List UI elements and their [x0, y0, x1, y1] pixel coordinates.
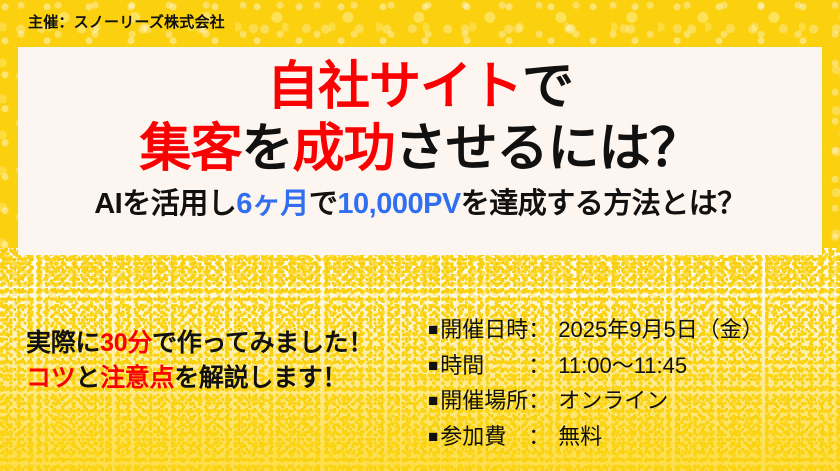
title-line-1: 自社サイトで: [18, 61, 822, 113]
pitch-line-2-highlight-1: コツ: [26, 364, 75, 392]
title-line-2-highlight-1: 集客: [139, 120, 241, 178]
pitch-line-1-highlight: 30分: [100, 329, 152, 357]
square-bullet-icon: ■: [428, 320, 438, 339]
pitch-line-1: 実際に30分で作ってみました！: [26, 326, 373, 361]
pitch-line-2-text-1: と: [75, 364, 100, 392]
square-bullet-icon: ■: [428, 356, 438, 375]
detail-label-fee: 参加費 ：: [440, 419, 558, 455]
pitch-line-2: コツと注意点を解説します！: [26, 361, 373, 396]
subtitle-text-3: を達成する方法とは？: [461, 188, 746, 220]
detail-row-time: ■時間 ：11:00〜11:45: [428, 348, 764, 384]
subtitle-text-1: AIを活用し: [94, 188, 236, 220]
detail-row-fee: ■参加費 ：無料: [428, 419, 764, 455]
host-organizer-line: 主催：スノーリーズ株式会社: [28, 11, 225, 32]
title-card: 自社サイトで 集客を成功させるには？ AIを活用し6ヶ月で10,000PVを達成…: [18, 47, 822, 255]
seminar-banner: 主催：スノーリーズ株式会社 自社サイトで 集客を成功させるには？ AIを活用し6…: [0, 0, 840, 471]
title-line-1-tail: で: [522, 58, 573, 116]
background-speckle-dense: [0, 250, 840, 320]
detail-value-fee: 無料: [558, 424, 602, 449]
subtitle-line: AIを活用し6ヶ月で10,000PVを達成する方法とは？: [18, 190, 822, 219]
title-line-1-highlight: 自社サイト: [267, 58, 522, 116]
title-line-2-text-2: させるには？: [395, 120, 701, 178]
pitch-line-2-text-2: を解説します！: [174, 364, 347, 392]
detail-label-time: 時間 ：: [440, 348, 558, 384]
detail-row-date: ■開催日時：2025年9月5日（金）: [428, 312, 764, 348]
detail-label-venue: 開催場所：: [440, 383, 558, 419]
subtitle-text-2: で: [309, 188, 338, 220]
event-details-block: ■開催日時：2025年9月5日（金） ■時間 ：11:00〜11:45 ■開催場…: [428, 312, 764, 455]
subtitle-highlight-pageviews: 10,000PV: [337, 188, 460, 220]
title-line-2-highlight-2: 成功: [293, 120, 395, 178]
detail-label-date: 開催日時：: [440, 312, 558, 348]
detail-row-venue: ■開催場所：オンライン: [428, 383, 764, 419]
square-bullet-icon: ■: [428, 391, 438, 410]
pitch-line-2-highlight-2: 注意点: [100, 364, 174, 392]
pitch-line-1-text-1: 実際に: [26, 329, 100, 357]
title-line-2-text-1: を: [241, 120, 292, 178]
detail-value-venue: オンライン: [558, 388, 668, 413]
subtitle-highlight-duration: 6ヶ月: [236, 188, 309, 220]
pitch-block: 実際に30分で作ってみました！ コツと注意点を解説します！: [26, 326, 373, 395]
detail-value-time: 11:00〜11:45: [558, 353, 687, 378]
detail-value-date: 2025年9月5日（金）: [558, 317, 763, 342]
square-bullet-icon: ■: [428, 427, 438, 446]
title-line-2: 集客を成功させるには？: [18, 123, 822, 175]
pitch-line-1-text-2: で作ってみました！: [152, 329, 373, 357]
